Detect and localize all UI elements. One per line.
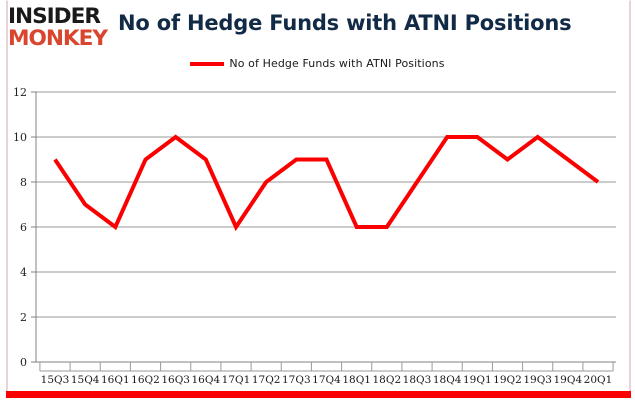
y-tick-label: 0	[20, 356, 27, 369]
x-tick-label: 18Q4	[433, 374, 462, 386]
x-tick-label: 18Q2	[373, 374, 402, 386]
x-tick-label: 19Q1	[463, 374, 492, 386]
x-tick-label: 17Q1	[222, 374, 251, 386]
bottom-accent-bar	[6, 391, 631, 398]
plot-area: 024681012 15Q315Q416Q116Q216Q316Q417Q117…	[0, 0, 635, 405]
y-tick-label: 8	[20, 176, 27, 189]
x-tick-label: 16Q1	[101, 374, 130, 386]
chart-page: INSIDER MONKEY No of Hedge Funds with AT…	[0, 0, 635, 405]
y-tick-label: 2	[20, 311, 27, 324]
x-tick-label: 17Q3	[282, 374, 311, 386]
x-tick-label: 15Q3	[41, 374, 70, 386]
x-tick-label: 20Q1	[584, 374, 613, 386]
x-tick-label: 19Q2	[493, 374, 522, 386]
x-tick-label: 19Q4	[554, 374, 583, 386]
x-tick-label: 16Q3	[161, 374, 190, 386]
x-tick-label: 18Q1	[342, 374, 371, 386]
grid-lines	[36, 92, 616, 362]
x-tick-label: 16Q2	[131, 374, 160, 386]
x-tick-labels: 15Q315Q416Q116Q216Q316Q417Q117Q217Q317Q4…	[41, 374, 613, 386]
x-axis	[40, 362, 613, 371]
y-axis	[31, 92, 36, 362]
x-tick-label: 17Q2	[252, 374, 281, 386]
x-tick-label: 19Q3	[523, 374, 552, 386]
y-tick-label: 4	[20, 266, 27, 279]
y-tick-labels: 024681012	[13, 86, 27, 369]
y-tick-label: 10	[13, 131, 27, 144]
y-tick-label: 12	[13, 86, 27, 99]
x-tick-label: 16Q4	[192, 374, 221, 386]
x-tick-label: 18Q3	[403, 374, 432, 386]
line-chart-svg: 024681012 15Q315Q416Q116Q216Q316Q417Q117…	[0, 0, 635, 405]
x-tick-label: 15Q4	[71, 374, 100, 386]
x-tick-label: 17Q4	[312, 374, 341, 386]
y-tick-label: 6	[20, 221, 27, 234]
